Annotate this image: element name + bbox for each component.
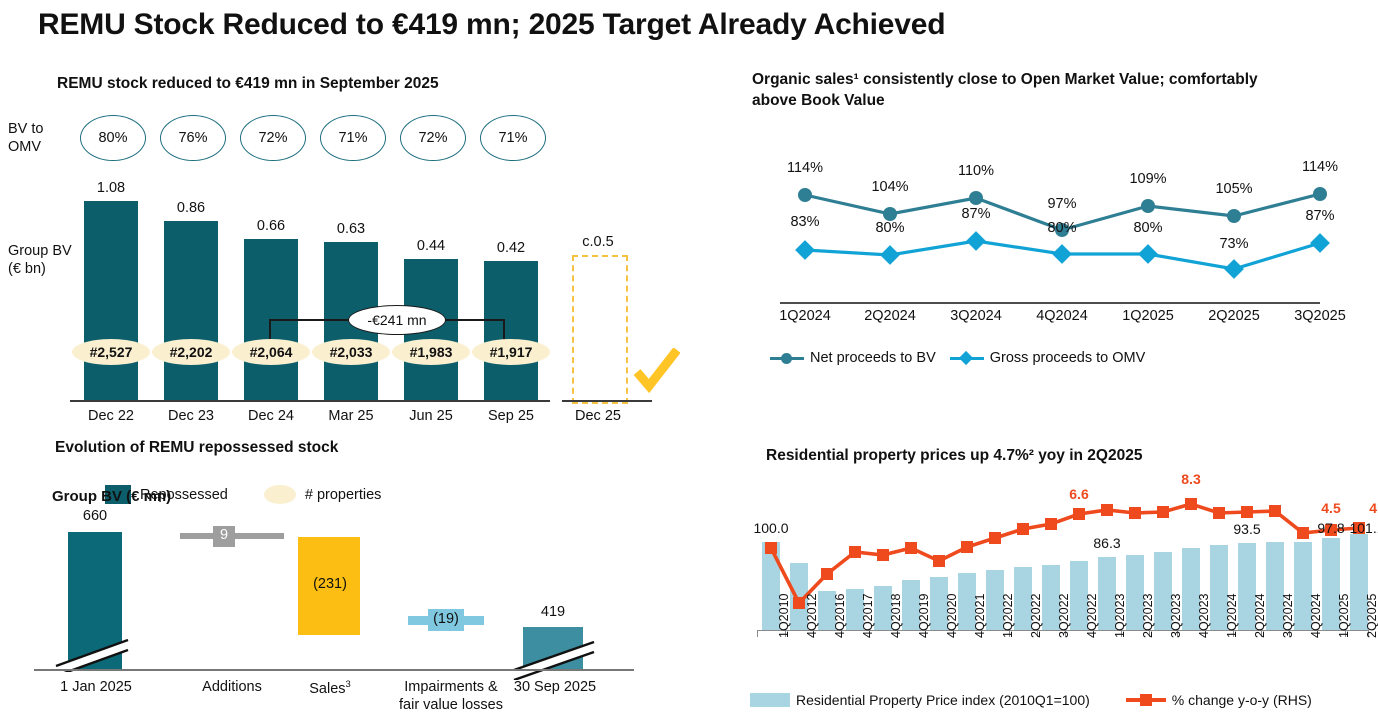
x-axis-line bbox=[70, 400, 550, 402]
x-label: 2Q2022 bbox=[1029, 594, 1043, 638]
bar-dec22 bbox=[84, 201, 138, 400]
target-achieved-check-icon bbox=[634, 348, 680, 394]
properties-count-pill: #1,917 bbox=[472, 339, 550, 365]
legend-swatch-price-index bbox=[750, 693, 790, 707]
bv-to-omv-row-label: BV toOMV bbox=[8, 120, 43, 156]
gross-proceeds-label: 87% bbox=[1293, 208, 1347, 224]
x-label: 1Q2025 bbox=[1111, 308, 1185, 324]
x-axis-line-forecast bbox=[562, 400, 652, 402]
x-label: 2Q2025 bbox=[1365, 594, 1378, 638]
x-label: 4Q2020 bbox=[945, 594, 959, 638]
x-label: 4Q2022 bbox=[1085, 594, 1099, 638]
x-label: 30 Sep 2025 bbox=[505, 678, 605, 696]
x-label-footnote: 3 bbox=[346, 678, 351, 689]
x-label: 4Q2019 bbox=[917, 594, 931, 638]
x-label: Jun 25 bbox=[394, 408, 468, 424]
bar-value: 0.42 bbox=[474, 240, 548, 256]
waterfall-unit-label: Group BV (€ mn) bbox=[52, 488, 171, 505]
x-label: Impairments &fair value losses bbox=[390, 678, 512, 714]
x-label: Mar 25 bbox=[314, 408, 388, 424]
axis-break-icon bbox=[50, 622, 140, 672]
x-axis-line bbox=[780, 302, 1320, 304]
bar-value: 1.08 bbox=[74, 180, 148, 196]
x-label: 3Q2024 bbox=[939, 308, 1013, 324]
group-bv-bar-chart: BV toOMV Group BV(€ bn) 80% 76% 72% 71% … bbox=[0, 100, 700, 410]
x-label: 1Q2025 bbox=[1337, 594, 1351, 638]
gross-proceeds-label: 80% bbox=[1035, 220, 1089, 236]
x-label: 1Q2010 bbox=[777, 594, 791, 638]
x-label: 3Q2025 bbox=[1283, 308, 1357, 324]
bv-omv-oval: 71% bbox=[320, 115, 386, 161]
net-proceeds-label: 97% bbox=[1035, 196, 1089, 212]
x-label: Sales3 bbox=[282, 678, 378, 698]
waterfall-value: 9 bbox=[199, 527, 249, 543]
axis-break-icon bbox=[508, 630, 603, 680]
properties-count-pill: #2,527 bbox=[72, 339, 150, 365]
waterfall-value: 660 bbox=[58, 508, 132, 524]
properties-count-pill: #2,064 bbox=[232, 339, 310, 365]
x-label: 1Q2023 bbox=[1113, 594, 1127, 638]
x-label: Dec 22 bbox=[74, 408, 148, 424]
x-label: 2Q2025 bbox=[1197, 308, 1271, 324]
bv-omv-oval: 80% bbox=[80, 115, 146, 161]
annotation-oval: -€241 mn bbox=[348, 305, 446, 335]
waterfall-value: 419 bbox=[518, 604, 588, 620]
top-right-legend: Net proceeds to BV Gross proceeds to OMV bbox=[770, 350, 1145, 366]
net-proceeds-label: 109% bbox=[1121, 171, 1175, 187]
price-index-value: 101.1 bbox=[1340, 520, 1378, 536]
legend-marker-diamond-icon bbox=[950, 357, 984, 360]
bar-value: c.0.5 bbox=[561, 234, 635, 250]
properties-count-pill: #2,033 bbox=[312, 339, 390, 365]
bar-value: 0.44 bbox=[394, 238, 468, 254]
legend-item-gross-proceeds: Gross proceeds to OMV bbox=[950, 350, 1146, 366]
x-label: 1Q2024 bbox=[768, 308, 842, 324]
bv-omv-oval: 72% bbox=[400, 115, 466, 161]
x-label: 3Q2024 bbox=[1281, 594, 1295, 638]
bar-dec23 bbox=[164, 221, 218, 400]
x-label: 2Q2023 bbox=[1141, 594, 1155, 638]
x-label: 4Q2012 bbox=[805, 594, 819, 638]
group-bv-axis-label: Group BV(€ bn) bbox=[8, 242, 72, 278]
bottom-right-panel-title: Residential property prices up 4.7%² yoy… bbox=[766, 446, 1326, 467]
x-label-line2: fair value losses bbox=[399, 697, 503, 713]
bar-value: 0.86 bbox=[154, 200, 228, 216]
x-label: Dec 23 bbox=[154, 408, 228, 424]
x-label: 2Q2024 bbox=[853, 308, 927, 324]
bar-value: 0.63 bbox=[314, 221, 388, 237]
tr-title-line2: above Book Value bbox=[752, 92, 885, 109]
x-label: 1Q2022 bbox=[1001, 594, 1015, 638]
waterfall-value: (231) bbox=[305, 576, 355, 592]
x-label: 4Q2016 bbox=[833, 594, 847, 638]
waterfall-value: (19) bbox=[421, 611, 471, 627]
bottom-right-legend: Residential Property Price index (2010Q1… bbox=[750, 692, 1312, 708]
legend-marker-circle-icon bbox=[770, 357, 804, 360]
x-label: 4Q2023 bbox=[1197, 594, 1211, 638]
legend-item-net-proceeds: Net proceeds to BV bbox=[770, 350, 936, 366]
price-index-value: 86.3 bbox=[1080, 535, 1134, 551]
x-label: Additions bbox=[182, 678, 282, 696]
x-label: 1Q2024 bbox=[1225, 594, 1239, 638]
gross-proceeds-label: 83% bbox=[778, 214, 832, 230]
legend-label-gross-proceeds: Gross proceeds to OMV bbox=[990, 350, 1146, 366]
x-axis-line bbox=[34, 669, 634, 671]
yoy-value: 4.5 bbox=[1311, 500, 1351, 516]
x-label-text: Sales bbox=[309, 681, 345, 697]
gross-proceeds-label: 87% bbox=[949, 206, 1003, 222]
bottom-left-panel-title: Evolution of REMU repossessed stock bbox=[55, 438, 555, 459]
top-left-panel-title: REMU stock reduced to €419 mn in Septemb… bbox=[57, 74, 657, 95]
yoy-value: 8.3 bbox=[1171, 471, 1211, 487]
yoy-value: 6.6 bbox=[1059, 486, 1099, 502]
gross-proceeds-label: 80% bbox=[1121, 220, 1175, 236]
net-proceeds-label: 104% bbox=[863, 179, 917, 195]
proceeds-line-chart: 114% 104% 110% 97% 109% 105% 114% 83% 80… bbox=[740, 150, 1378, 400]
x-label: 4Q2017 bbox=[861, 594, 875, 638]
legend-item-price-index: Residential Property Price index (2010Q1… bbox=[750, 692, 1090, 708]
legend-label-yoy: % change y-o-y (RHS) bbox=[1172, 692, 1312, 708]
yoy-value: 4.7 bbox=[1359, 500, 1378, 516]
x-label: Sep 25 bbox=[474, 408, 548, 424]
gross-proceeds-label: 73% bbox=[1207, 236, 1261, 252]
net-proceeds-label: 114% bbox=[1293, 159, 1347, 175]
price-index-value: 100.0 bbox=[744, 520, 798, 536]
bv-omv-oval: 71% bbox=[480, 115, 546, 161]
legend-label-net-proceeds: Net proceeds to BV bbox=[810, 350, 936, 366]
x-label: 4Q2024 bbox=[1309, 594, 1323, 638]
properties-count-pill: #2,202 bbox=[152, 339, 230, 365]
gross-proceeds-label: 80% bbox=[863, 220, 917, 236]
net-proceeds-label: 114% bbox=[778, 160, 832, 176]
net-proceeds-label: 110% bbox=[949, 163, 1003, 179]
residential-price-index-chart: 100.0 86.3 93.5 97.8 101.1 6.6 8.3 4.5 4… bbox=[740, 470, 1378, 715]
bar-value: 0.66 bbox=[234, 218, 308, 234]
bv-omv-oval: 72% bbox=[240, 115, 306, 161]
x-label: 3Q2023 bbox=[1169, 594, 1183, 638]
bar-dec25-forecast bbox=[572, 255, 628, 404]
remu-waterfall-chart: Group BV (€ mn) 660 9 (231) (19) 419 1 J… bbox=[0, 470, 700, 715]
x-label: 4Q2021 bbox=[973, 594, 987, 638]
x-label: 3Q2022 bbox=[1057, 594, 1071, 638]
tr-title-line1: Organic sales¹ consistently close to Ope… bbox=[752, 71, 1258, 88]
x-label-line1: Impairments & bbox=[404, 679, 497, 695]
x-label: Dec 25 bbox=[561, 408, 635, 424]
net-proceeds-label: 105% bbox=[1207, 181, 1261, 197]
bv-omv-oval: 76% bbox=[160, 115, 226, 161]
legend-marker-square-icon bbox=[1126, 698, 1166, 702]
price-index-value: 93.5 bbox=[1220, 521, 1274, 537]
legend-item-yoy: % change y-o-y (RHS) bbox=[1126, 692, 1312, 708]
page-title: REMU Stock Reduced to €419 mn; 2025 Targ… bbox=[38, 8, 1338, 42]
x-label: 4Q2024 bbox=[1025, 308, 1099, 324]
legend-label-price-index: Residential Property Price index (2010Q1… bbox=[796, 692, 1090, 708]
properties-count-pill: #1,983 bbox=[392, 339, 470, 365]
x-label: 2Q2024 bbox=[1253, 594, 1267, 638]
x-label: Dec 24 bbox=[234, 408, 308, 424]
x-label: 1 Jan 2025 bbox=[48, 678, 144, 696]
x-label: 4Q2018 bbox=[889, 594, 903, 638]
top-right-panel-title: Organic sales¹ consistently close to Ope… bbox=[752, 70, 1352, 112]
